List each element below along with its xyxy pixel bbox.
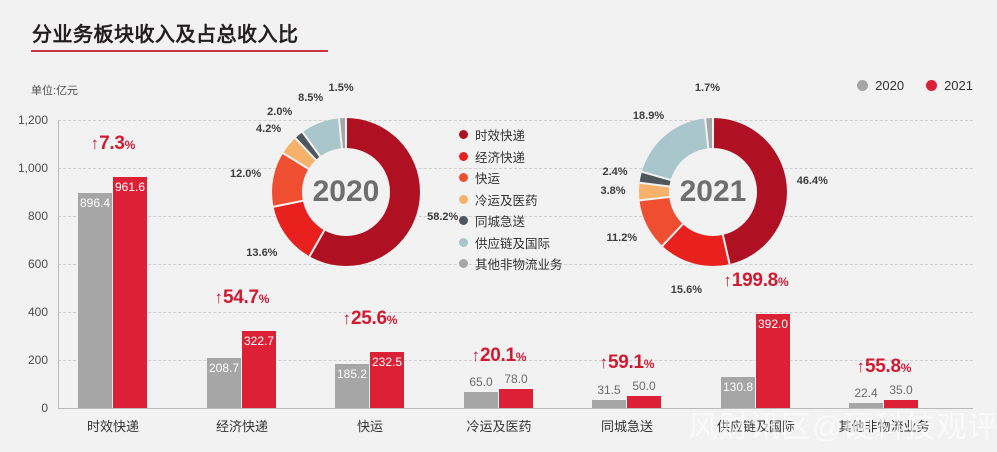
circle-icon: [459, 130, 468, 139]
slice-value-label: 1.7%: [695, 82, 720, 94]
legend-item-label: 2020: [875, 78, 904, 93]
legend-item-2021[interactable]: 2021: [926, 78, 973, 93]
y-tick-label: 800: [0, 209, 48, 223]
donut-chart-2020: 202058.2%13.6%12.0%4.2%2.0%8.5%1.5%: [272, 118, 420, 266]
slice-value-label: 2.4%: [602, 166, 627, 178]
slice-value-label: 4.2%: [256, 123, 281, 135]
bar-group: 208.7322.7↑54.7%经济快递: [207, 120, 276, 408]
bar-value-label-2020: 22.4: [849, 386, 883, 400]
circle-icon: [926, 80, 937, 91]
y-tick-label: 1,200: [0, 113, 48, 127]
bar-2020[interactable]: 22.4: [849, 403, 883, 408]
y-tick-label: 1,000: [0, 161, 48, 175]
circle-icon: [459, 216, 468, 225]
bar-2021[interactable]: 35.0: [884, 400, 918, 408]
circle-icon: [459, 238, 468, 247]
bar-value-label-2021: 50.0: [627, 379, 661, 393]
donut-chart-2021: 202146.4%15.6%11.2%3.8%2.4%18.9%1.7%: [639, 118, 787, 266]
growth-value: 59.1: [608, 352, 644, 373]
donut-category-legend: 时效快递经济快递快运冷运及医药同城急送供应链及国际其他非物流业务: [459, 124, 563, 275]
percent-sign: %: [125, 138, 136, 152]
growth-value: 55.8: [865, 356, 901, 377]
circle-icon: [857, 80, 868, 91]
donut-legend-item[interactable]: 时效快递: [459, 124, 563, 146]
circle-icon: [459, 152, 468, 161]
donut-legend-label: 经济快递: [475, 147, 525, 166]
bar-value-label-2021: 78.0: [499, 372, 533, 386]
bar-2021[interactable]: 78.0: [499, 389, 533, 408]
chart-canvas: 分业务板块收入及占总收入比 单位:亿元 20202021 02004006008…: [0, 0, 997, 452]
y-tick-label: 200: [0, 353, 48, 367]
growth-value: 25.6: [351, 308, 387, 329]
bar-2020[interactable]: 130.8: [721, 377, 755, 408]
slice-value-label: 3.8%: [600, 185, 625, 197]
donut-center-label: 2021: [680, 175, 747, 209]
bar-2020[interactable]: 208.7: [207, 358, 241, 408]
bar-2021[interactable]: 961.6: [113, 177, 147, 408]
x-tick-label: 经济快递: [183, 416, 301, 435]
x-axis-line: [58, 408, 973, 409]
bar-value-label-2020: 208.7: [207, 361, 241, 375]
bar-2020[interactable]: 31.5: [592, 400, 626, 408]
arrow-up-icon: ↑: [91, 134, 100, 153]
percent-sign: %: [778, 275, 789, 289]
x-tick-label: 其他非物流业务: [825, 416, 943, 435]
slice-value-label: 46.4%: [797, 175, 828, 187]
growth-value: 20.1: [480, 345, 516, 366]
arrow-up-icon: ↑: [723, 271, 732, 290]
donut-legend-label: 供应链及国际: [475, 233, 550, 252]
percent-sign: %: [644, 357, 655, 371]
slice-value-label: 13.6%: [246, 247, 277, 259]
donut-center-label: 2020: [313, 175, 380, 209]
x-tick-label: 供应链及国际: [697, 416, 815, 435]
bar-2021[interactable]: 232.5: [370, 352, 404, 408]
slice-value-label: 12.0%: [230, 168, 261, 180]
series-legend: 20202021: [857, 78, 973, 93]
arrow-up-icon: ↑: [857, 357, 866, 376]
slice-value-label: 15.6%: [671, 284, 702, 296]
bar-group: 22.435.0↑55.8%其他非物流业务: [849, 120, 918, 408]
growth-value: 199.8: [732, 270, 778, 291]
donut-legend-item[interactable]: 经济快递: [459, 146, 563, 168]
growth-value: 7.3: [99, 133, 125, 154]
bar-value-label-2020: 896.4: [78, 196, 112, 210]
donut-legend-item[interactable]: 同城急送: [459, 210, 563, 232]
bar-value-label-2021: 961.6: [113, 180, 147, 194]
donut-legend-item[interactable]: 冷运及医药: [459, 189, 563, 211]
arrow-up-icon: ↑: [343, 309, 352, 328]
x-tick-label: 同城急送: [568, 416, 686, 435]
donut-legend-item[interactable]: 快运: [459, 167, 563, 189]
growth-annotation: ↑25.6%: [326, 308, 414, 330]
donut-legend-label: 冷运及医药: [475, 190, 538, 209]
slice-value-label: 18.9%: [633, 110, 664, 122]
bar-value-label-2020: 65.0: [464, 375, 498, 389]
bar-value-label-2020: 185.2: [335, 367, 369, 381]
bar-2020[interactable]: 896.4: [78, 193, 112, 408]
percent-sign: %: [516, 350, 527, 364]
donut-legend-label: 其他非物流业务: [475, 254, 563, 273]
slice-value-label: 1.5%: [329, 82, 354, 94]
y-tick-label: 0: [0, 401, 48, 415]
growth-annotation: ↑55.8%: [840, 356, 928, 378]
arrow-up-icon: ↑: [600, 353, 609, 372]
arrow-up-icon: ↑: [472, 346, 481, 365]
circle-icon: [459, 173, 468, 182]
bar-value-label-2020: 130.8: [721, 380, 755, 394]
percent-sign: %: [387, 313, 398, 327]
y-tick-label: 400: [0, 305, 48, 319]
donut-legend-item[interactable]: 供应链及国际: [459, 232, 563, 254]
slice-value-label: 58.2%: [427, 211, 458, 223]
donut-legend-label: 时效快递: [475, 125, 525, 144]
percent-sign: %: [259, 292, 270, 306]
growth-annotation: ↑54.7%: [198, 287, 286, 309]
slice-value-label: 11.2%: [607, 232, 638, 244]
x-tick-label: 冷运及医药: [440, 416, 558, 435]
growth-annotation: ↑20.1%: [455, 345, 543, 367]
slice-value-label: 2.0%: [267, 106, 292, 118]
legend-item-label: 2021: [944, 78, 973, 93]
donut-legend-label: 同城急送: [475, 211, 525, 230]
bar-2020[interactable]: 65.0: [464, 392, 498, 408]
growth-value: 54.7: [223, 287, 259, 308]
growth-annotation: ↑59.1%: [583, 352, 671, 374]
bar-2021[interactable]: 392.0: [756, 314, 790, 408]
bar-value-label-2021: 392.0: [756, 317, 790, 331]
circle-icon: [459, 195, 468, 204]
bar-2020[interactable]: 185.2: [335, 364, 369, 408]
bar-value-label-2021: 35.0: [884, 383, 918, 397]
y-tick-label: 600: [0, 257, 48, 271]
x-tick-label: 快运: [311, 416, 429, 435]
arrow-up-icon: ↑: [215, 288, 224, 307]
bar-group: 896.4961.6↑7.3%时效快递: [78, 120, 147, 408]
x-tick-label: 时效快递: [54, 416, 172, 435]
bar-value-label-2021: 322.7: [242, 334, 276, 348]
bar-value-label-2020: 31.5: [592, 383, 626, 397]
legend-item-2020[interactable]: 2020: [857, 78, 904, 93]
slice-value-label: 8.5%: [298, 92, 323, 104]
growth-annotation: ↑7.3%: [69, 133, 157, 155]
title-underline: [31, 50, 328, 52]
unit-note: 单位:亿元: [31, 82, 78, 98]
donut-legend-label: 快运: [475, 168, 500, 187]
circle-icon: [459, 259, 468, 268]
bar-value-label-2021: 232.5: [370, 355, 404, 369]
bar-2021[interactable]: 50.0: [627, 396, 661, 408]
growth-annotation: ↑199.8%: [712, 270, 800, 292]
bar-2021[interactable]: 322.7: [242, 331, 276, 408]
percent-sign: %: [901, 361, 912, 375]
page-title: 分业务板块收入及占总收入比: [32, 18, 299, 47]
donut-legend-item[interactable]: 其他非物流业务: [459, 253, 563, 275]
